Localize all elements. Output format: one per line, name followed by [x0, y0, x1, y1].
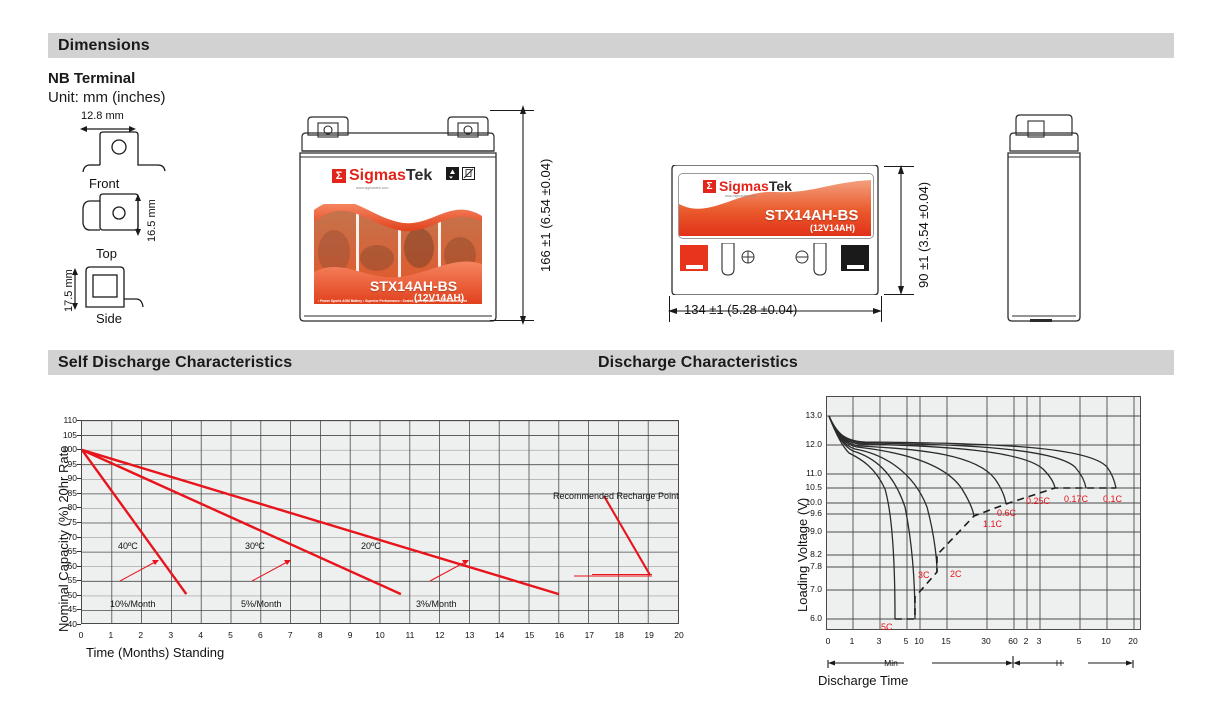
self-discharge-y-tickmark — [77, 493, 81, 494]
discharge-curve-label-5c: 5C — [881, 622, 893, 632]
discharge-x-axis-label: Discharge Time — [818, 673, 908, 688]
height-ext-line-top — [490, 110, 534, 111]
self-discharge-x-tick: 10 — [370, 630, 390, 640]
self-discharge-x-tick: 6 — [250, 630, 270, 640]
width-ext-left — [669, 296, 670, 322]
discharge-curve-label-0-25c: 0.25C — [1026, 496, 1050, 506]
terminal-side-dim-arrow — [70, 268, 80, 310]
self-discharge-x-tick: 5 — [221, 630, 241, 640]
terminal-front-view — [72, 131, 168, 177]
self-discharge-y-tick: 110 — [55, 415, 77, 425]
discharge-x-tick: 20 — [1124, 636, 1142, 646]
unit-note: Unit: mm (inches) — [48, 89, 166, 106]
discharge-y-tick: 7.8 — [796, 561, 822, 571]
discharge-y-tick: 6.0 — [796, 613, 822, 623]
self-discharge-x-tick: 14 — [490, 630, 510, 640]
self-discharge-chart — [82, 421, 678, 623]
self-discharge-y-tick: 45 — [55, 604, 77, 614]
discharge-y-tick: 10.5 — [796, 482, 822, 492]
terminal-front-dim: 12.8 mm — [81, 110, 124, 122]
discharge-y-tick: 7.0 — [796, 584, 822, 594]
self-discharge-y-tick: 70 — [55, 532, 77, 542]
self-discharge-annotation-recharge: Recommended Recharge Point — [553, 491, 679, 501]
discharge-curve-label-2c: 2C — [950, 569, 962, 579]
self-discharge-x-tick: 15 — [520, 630, 540, 640]
battery-side-height-dimension — [894, 165, 908, 295]
battery-height-label: 166 ±1 (6.54 ±0.04) — [538, 159, 553, 272]
discharge-curve-label-3c: 3C — [918, 570, 930, 580]
brand-logo-front: Σ SigmasTek — [332, 168, 432, 184]
discharge-y-tick: 8.2 — [796, 549, 822, 559]
discharge-x-tick: 10 — [910, 636, 928, 646]
battery-side-label: Σ SigmasTek www.sigmastek.com STX14AH-BS… — [678, 173, 874, 239]
battery-width-label: 134 ±1 (5.28 ±0.04) — [684, 302, 797, 317]
discharge-x-tick: 5 — [1070, 636, 1088, 646]
self-discharge-y-tickmark — [77, 537, 81, 538]
brand-name-first-side: Sigmas — [719, 178, 769, 194]
discharge-y-tick: 12.0 — [796, 439, 822, 449]
self-discharge-y-tickmark — [77, 449, 81, 450]
terminal-side-view — [80, 265, 176, 313]
self-discharge-annotation-40c: 40ºC — [118, 541, 138, 551]
discharge-x-tick: 1 — [843, 636, 861, 646]
brand-name-second: Tek — [406, 167, 432, 184]
discharge-chart — [827, 397, 1140, 629]
section-title-dimensions: Dimensions — [58, 37, 150, 55]
brand-logo-side: Σ SigmasTek — [703, 179, 792, 193]
self-discharge-y-tick: 40 — [55, 619, 77, 629]
self-discharge-y-tick: 80 — [55, 502, 77, 512]
self-discharge-x-tick: 18 — [609, 630, 629, 640]
battery-rear-view — [978, 105, 1106, 325]
self-discharge-y-tick: 105 — [55, 430, 77, 440]
self-discharge-annotation-30c: 30ºC — [245, 541, 265, 551]
battery-model-side: STX14AH-BS — [765, 207, 858, 224]
self-discharge-y-tick: 60 — [55, 561, 77, 571]
self-discharge-y-tickmark — [77, 595, 81, 596]
self-discharge-annotation-rate-5: 5%/Month — [241, 599, 282, 609]
self-discharge-y-tickmark — [77, 624, 81, 625]
self-discharge-y-tickmark — [77, 580, 81, 581]
discharge-range-label-min: Min — [878, 658, 904, 668]
self-discharge-y-tickmark — [77, 609, 81, 610]
side-height-ext-bottom — [884, 294, 914, 295]
discharge-range-label-hours: H — [1052, 658, 1066, 668]
side-height-ext-top — [884, 166, 914, 167]
self-discharge-y-tickmark — [77, 435, 81, 436]
no-dispose-icon — [462, 167, 475, 180]
self-discharge-x-tick: 11 — [400, 630, 420, 640]
section-title-discharge: Discharge Characteristics — [598, 354, 798, 372]
self-discharge-x-tick: 20 — [669, 630, 689, 640]
self-discharge-annotation-rate-3: 3%/Month — [416, 599, 457, 609]
self-discharge-x-tick: 19 — [639, 630, 659, 640]
battery-spec-side: (12V14AH) — [810, 223, 855, 233]
self-discharge-x-tick: 3 — [161, 630, 181, 640]
self-discharge-x-tick: 16 — [549, 630, 569, 640]
section-header-discharge: Discharge Characteristics — [588, 350, 1174, 375]
self-discharge-annotation-20c: 20ºC — [361, 541, 381, 551]
section-title-self-discharge: Self Discharge Characteristics — [58, 354, 292, 372]
self-discharge-y-tick: 95 — [55, 459, 77, 469]
sigma-icon-side: Σ — [703, 180, 716, 193]
self-discharge-x-axis-label: Time (Months) Standing — [86, 645, 224, 660]
discharge-curve-label-0-17c: 0.17C — [1064, 494, 1088, 504]
discharge-curve-label-1-1c: 1.1C — [983, 519, 1002, 529]
discharge-x-tick: 3 — [1030, 636, 1048, 646]
self-discharge-y-tick: 50 — [55, 590, 77, 600]
width-ext-right — [881, 296, 882, 322]
self-discharge-x-tick: 4 — [191, 630, 211, 640]
battery-height-dimension — [516, 105, 530, 325]
self-discharge-x-tick: 9 — [340, 630, 360, 640]
self-discharge-y-tickmark — [77, 566, 81, 567]
terminal-top-dim: 16.5 mm — [146, 199, 158, 242]
discharge-time-range-bars — [826, 652, 1141, 668]
self-discharge-x-tick: 17 — [579, 630, 599, 640]
battery-side-terminals — [678, 243, 872, 291]
self-discharge-y-tick: 55 — [55, 575, 77, 585]
discharge-x-tick: 0 — [819, 636, 837, 646]
self-discharge-y-tick: 75 — [55, 517, 77, 527]
self-discharge-y-tickmark — [77, 507, 81, 508]
discharge-x-tick: 30 — [977, 636, 995, 646]
battery-front-label: Σ SigmasTek www.sigmastek.com STX14AH-BS… — [310, 160, 486, 308]
terminal-side-caption: Side — [96, 311, 122, 326]
self-discharge-annotation-rate-10: 10%/Month — [110, 599, 156, 609]
self-discharge-y-tickmark — [77, 420, 81, 421]
discharge-curve-label-0-6c: 0.6C — [997, 508, 1016, 518]
recycle-icon — [446, 167, 459, 180]
self-discharge-x-tick: 2 — [131, 630, 151, 640]
battery-side-height-label: 90 ±1 (3.54 ±0.04) — [916, 182, 931, 288]
discharge-y-tick: 9.6 — [796, 508, 822, 518]
self-discharge-y-tick: 90 — [55, 473, 77, 483]
sigma-icon: Σ — [332, 169, 346, 183]
discharge-x-tick: 10 — [1097, 636, 1115, 646]
self-discharge-x-tick: 0 — [71, 630, 91, 640]
self-discharge-x-tick: 8 — [310, 630, 330, 640]
terminal-top-dim-arrow — [133, 194, 143, 236]
discharge-y-tick: 11.0 — [796, 468, 822, 478]
self-discharge-y-tickmark — [77, 551, 81, 552]
self-discharge-x-tick: 12 — [430, 630, 450, 640]
brand-name-second-side: Tek — [769, 178, 792, 194]
discharge-plot — [826, 396, 1141, 630]
brand-name-first: Sigmas — [349, 167, 406, 184]
nb-terminal-title: NB Terminal — [48, 70, 135, 87]
height-ext-line-bottom — [490, 320, 534, 321]
discharge-y-tick: 9.0 — [796, 526, 822, 536]
brand-website-front: www.sigmastek.com — [356, 186, 389, 190]
self-discharge-x-tick: 7 — [280, 630, 300, 640]
discharge-curve-label-0-1c: 0.1C — [1103, 494, 1122, 504]
brand-website-side: www.sigmastek.com — [725, 194, 756, 198]
discharge-y-tick: 13.0 — [796, 410, 822, 420]
self-discharge-y-tick: 100 — [55, 444, 77, 454]
self-discharge-y-tickmark — [77, 464, 81, 465]
self-discharge-x-tick: 1 — [101, 630, 121, 640]
self-discharge-x-tick: 13 — [460, 630, 480, 640]
discharge-x-tick: 3 — [870, 636, 888, 646]
self-discharge-y-tick: 65 — [55, 546, 77, 556]
self-discharge-y-tickmark — [77, 522, 81, 523]
self-discharge-y-tick: 85 — [55, 488, 77, 498]
terminal-front-caption: Front — [89, 176, 119, 191]
self-discharge-y-tickmark — [77, 478, 81, 479]
battery-model-front: STX14AH-BS — [370, 278, 457, 294]
section-header-self-discharge: Self Discharge Characteristics — [48, 350, 600, 375]
terminal-top-caption: Top — [96, 246, 117, 261]
discharge-y-tick: 10.0 — [796, 497, 822, 507]
battery-features-front: • Power Sports AGM Battery • Superior Pe… — [318, 299, 467, 303]
self-discharge-plot — [81, 420, 679, 624]
discharge-x-tick: 15 — [937, 636, 955, 646]
section-header-dimensions: Dimensions — [48, 33, 1174, 58]
